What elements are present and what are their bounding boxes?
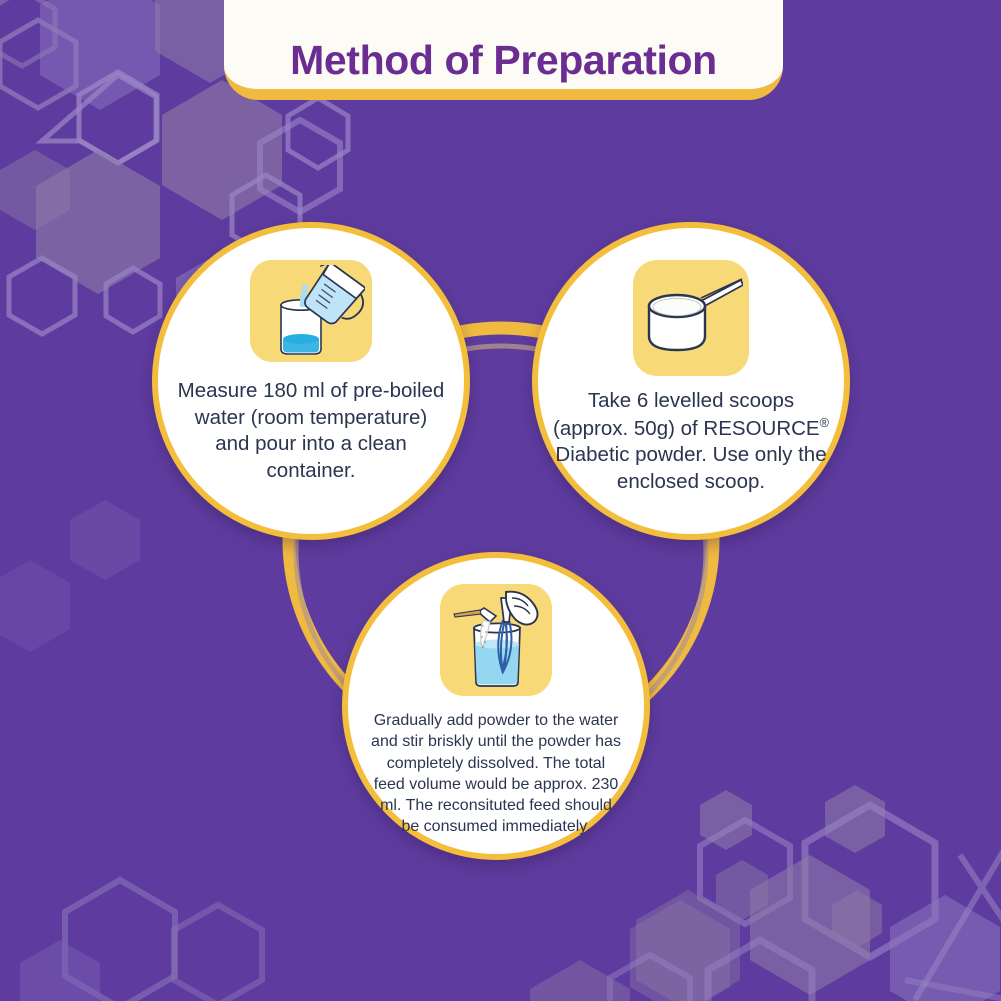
step-card-2: Take 6 levelled scoops (approx. 50g) of … <box>532 222 850 540</box>
step-1-icon-tile <box>250 260 372 362</box>
pouring-jug-into-glass-icon <box>257 265 365 357</box>
step-3-text: Gradually add powder to the water and st… <box>370 710 622 838</box>
step-card-1: Measure 180 ml of pre-boiled water (room… <box>152 222 470 540</box>
step-3-icon-tile <box>440 584 552 696</box>
measuring-scoop-icon <box>639 276 743 360</box>
title-banner: Method of Preparation <box>224 0 783 100</box>
infographic-canvas: Method of Preparation <box>0 0 1001 1001</box>
step-2-text: Take 6 levelled scoops (approx. 50g) of … <box>550 388 832 495</box>
step-1-text: Measure 180 ml of pre-boiled water (room… <box>175 378 447 485</box>
whisk-stirring-glass-icon <box>446 590 546 690</box>
step-card-3: Gradually add powder to the water and st… <box>342 552 650 860</box>
step-2-text-part-1: Take 6 levelled scoops (approx. 50g) of … <box>553 389 820 439</box>
registered-trademark-mark: ® <box>820 415 829 430</box>
step-2-text-part-2: Diabetic powder. Use only the enclosed s… <box>555 443 826 493</box>
page-title: Method of Preparation <box>290 40 717 81</box>
step-2-icon-tile <box>633 260 749 376</box>
